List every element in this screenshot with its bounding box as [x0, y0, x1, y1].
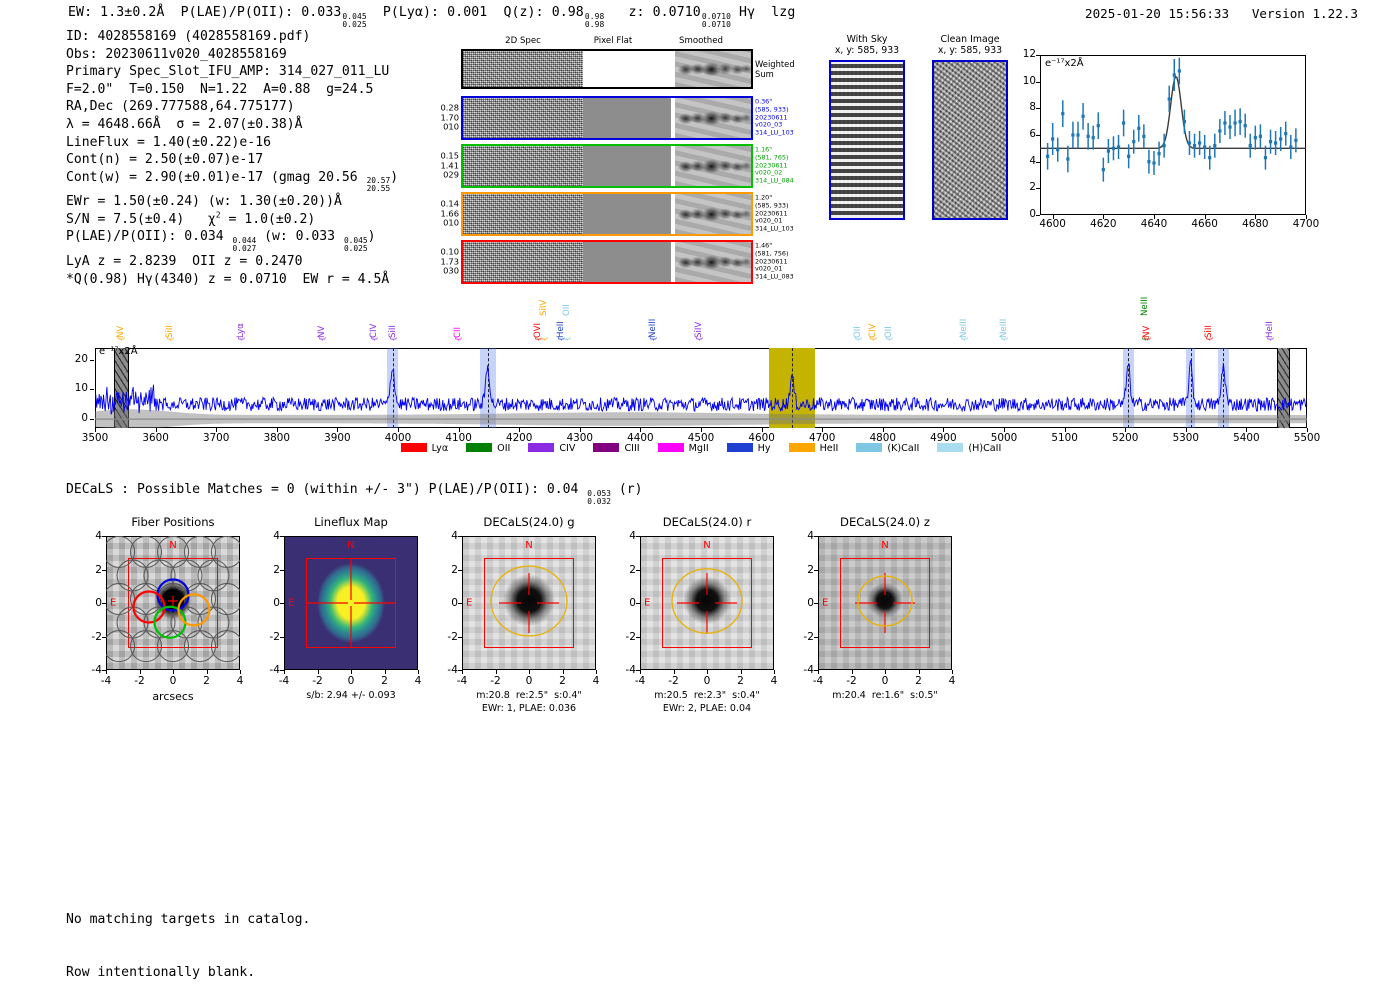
zoom-ytick-mark [1036, 55, 1040, 56]
cutout-title: DECaLS(24.0) r [640, 515, 774, 529]
cutout-xtick-mark [818, 670, 819, 674]
cutout-xtick-mark [529, 670, 530, 674]
zoom-ytick: 12 [1012, 48, 1036, 60]
cutout-ytick: 4 [258, 530, 280, 542]
cutout-xtick: 2 [203, 675, 210, 687]
cutout-xtick: 4 [415, 675, 422, 687]
fiber1-right-meta: 0.36" (585, 933) 20230611 v020_03 314_LU… [755, 99, 794, 138]
cutout-panel-2[interactable]: NE [284, 536, 418, 670]
aperture-ellipse [818, 536, 952, 670]
cutout-ytick-mark [814, 570, 818, 571]
fiber3-right-meta: 1.20" (585, 933) 20230611 v020_01 314_LU… [755, 195, 794, 234]
cutout-ytick: 2 [80, 564, 102, 576]
emission-line-label: CIV [369, 324, 379, 338]
cutout-xtick-mark [596, 670, 597, 674]
cutout-ytick-mark [814, 670, 818, 671]
cutout-ytick-mark [814, 637, 818, 638]
plae2-lower: 0.027 [233, 245, 257, 253]
cutout-xtick-mark [919, 670, 920, 674]
info-primary-spec: Primary Spec_Slot_IFU_AMP: 314_027_011_L… [66, 63, 398, 81]
z-lower: 0.0710 [702, 21, 731, 29]
spectrum-xtick-mark [519, 428, 520, 432]
info-cont-w: Cont(w) = 2.90(±0.01)e-17 (gmag 20.56 20… [66, 169, 398, 194]
emission-line-label: NV [1142, 326, 1152, 338]
center-crosshair [284, 536, 418, 670]
legend-label: CIV [559, 443, 575, 454]
spectrum-xtick-mark [943, 428, 944, 432]
with-sky-cutout: With Sky x, y: 585, 933 [822, 34, 912, 220]
with-sky-title: With Sky [822, 34, 912, 45]
plya-value: 0.001 [447, 5, 487, 20]
spectrum-xtick-mark [1065, 428, 1066, 432]
legend-swatch [658, 443, 684, 452]
cont-w-text: Cont(w) = 2.90(±0.01)e-17 (gmag 20.56 [66, 170, 366, 185]
info-lineflux: LineFlux = 1.40(±0.22)e-16 [66, 134, 398, 152]
emission-line-label: NV [116, 326, 126, 338]
fiber-circles [106, 536, 240, 670]
info-plae: P(LAE)/P(OII): 0.034 0.0440.027 (w: 0.03… [66, 228, 398, 253]
gmag-lower: 20.55 [367, 185, 391, 193]
spec2d-row-fiber-1: 0.28 1.70 010 0.36" (585, 933) 20230611 … [461, 96, 753, 140]
cutout-xtick-mark [462, 670, 463, 674]
cutout-xtick-mark [640, 670, 641, 674]
qz-lower: 0.98 [585, 21, 604, 29]
cutout-ytick-mark [102, 603, 106, 604]
cutout-ytick: 2 [258, 564, 280, 576]
emission-line-label: CIV [868, 324, 878, 338]
spectrum-ytick: 10 [62, 382, 88, 394]
zoom-xtick: 4700 [1293, 218, 1319, 230]
legend-item: CIV [528, 443, 575, 454]
fiber1-pixelflat-image [583, 98, 671, 138]
cutout-ytick-mark [280, 670, 284, 671]
cutout-ytick-mark [814, 603, 818, 604]
spectrum-plot-canvas [95, 348, 1307, 428]
emission-line-label: OII [562, 304, 572, 316]
cutout-ytick: -4 [80, 664, 102, 676]
plae2-text: P(LAE)/P(OII): 0.034 [66, 229, 232, 244]
with-sky-coords: x, y: 585, 933 [822, 45, 912, 56]
legend-label: (H)CaII [968, 443, 1001, 454]
fiber2-2dspec-image [463, 146, 583, 186]
header-line-name: Hγ [739, 5, 755, 20]
cutout-caption-1: m:20.4 re:1.6" s:0.5" [804, 690, 966, 701]
legend-item: (K)CaII [856, 443, 919, 454]
weighted-sum-label: Weighted Sum [755, 59, 795, 79]
spectrum-ytick-mark [90, 419, 94, 420]
zoom-ytick: 6 [1012, 128, 1036, 140]
cutout-ytick: -2 [80, 631, 102, 643]
cutout-xtick: -2 [668, 675, 679, 687]
spectrum-xtick-mark [1004, 428, 1005, 432]
z-value: 0.0710 [653, 5, 701, 20]
cutout-title: DECaLS(24.0) z [818, 515, 952, 529]
line-fit-zoom-chart: e⁻¹⁷x2Å [1040, 55, 1306, 215]
cutout-xtick-mark [173, 670, 174, 674]
cutout-xtick-mark [418, 670, 419, 674]
zoom-ytick: 4 [1012, 155, 1036, 167]
aperture-ellipse [462, 536, 596, 670]
cutout-ytick-mark [814, 536, 818, 537]
spec2d-row-fiber-2: 0.15 1.41 029 1.16" (581, 765) 20230611 … [461, 144, 753, 188]
fiber3-2dspec-image [463, 194, 583, 234]
cont-w-close: ) [390, 170, 398, 185]
cutout-xtick-mark [707, 670, 708, 674]
fiber3-pixelflat-image [583, 194, 671, 234]
info-wavelength-sigma: λ = 4648.66Å σ = 2.07(±0.38)Å [66, 116, 398, 134]
plae2-w-lower: 0.025 [344, 245, 368, 253]
zoom-plot-canvas [1040, 55, 1306, 215]
cutout-ytick-mark [458, 670, 462, 671]
legend-item: CIII [593, 443, 639, 454]
cutout-xtick: -4 [101, 675, 112, 687]
cutout-ytick-mark [458, 570, 462, 571]
fiber1-smoothed-image [675, 98, 751, 138]
spectrum-xtick-mark [762, 428, 763, 432]
cutout-ytick: -4 [436, 664, 458, 676]
cutout-ytick-mark [280, 536, 284, 537]
emission-line-label: OII [853, 326, 863, 338]
cutout-xtick: -2 [490, 675, 501, 687]
cutout-ytick: -2 [792, 631, 814, 643]
emission-line-label: NeIII [959, 319, 969, 338]
cutout-xtick: 4 [237, 675, 244, 687]
cutout-ytick-mark [102, 570, 106, 571]
zoom-ytick-mark [1036, 82, 1040, 83]
cutout-ytick: 0 [792, 597, 814, 609]
cutout-xtick-mark [207, 670, 208, 674]
qz-value: 0.98 [552, 5, 584, 20]
spectrum-xtick-mark [1246, 428, 1247, 432]
header-flag: lzg [771, 5, 795, 20]
cutout-caption-1: m:20.8 re:2.5" s:0.4" [448, 690, 610, 701]
cutout-xtick: 2 [737, 675, 744, 687]
cutout-ytick: 4 [792, 530, 814, 542]
info-id: ID: 4028558169 (4028558169.pdf) [66, 28, 398, 46]
emission-line-label: SiII [388, 325, 398, 338]
cutout-xtick: -4 [813, 675, 824, 687]
emission-line-bracket: { [564, 336, 572, 342]
cutout-xtick: 2 [915, 675, 922, 687]
legend-swatch [593, 443, 619, 452]
cutout-ytick-mark [102, 536, 106, 537]
fiber1-2dspec-image [463, 98, 583, 138]
cutout-panel-1[interactable]: NE [106, 536, 240, 670]
cutout-xtick-mark [496, 670, 497, 674]
legend-label: OII [497, 443, 510, 454]
zoom-xtick-mark [1306, 215, 1307, 219]
footer-note: No matching targets in catalog. Row inte… [66, 876, 310, 999]
spectrum-ytick: 0 [62, 412, 88, 424]
cutout-ytick-mark [636, 536, 640, 537]
plya-label: P(Lyα): [383, 5, 439, 20]
emission-line-label: NeIII [999, 319, 1009, 338]
col-title-smoothed: Smoothed [679, 36, 723, 46]
col-title-pixelflat: Pixel Flat [594, 36, 633, 46]
cutout-ytick-mark [280, 570, 284, 571]
emission-line-label: NV [317, 326, 327, 338]
zoom-xtick-mark [1255, 215, 1256, 219]
cutout-xtick: 0 [170, 675, 177, 687]
cutout-ytick: -2 [258, 631, 280, 643]
cutout-title: DECaLS(24.0) g [462, 515, 596, 529]
cutout-ytick-mark [636, 637, 640, 638]
decals-plae-lower: 0.032 [587, 498, 611, 506]
fiber1-left-stats: 0.28 1.70 010 [441, 104, 459, 133]
legend-swatch [466, 443, 492, 452]
emission-line-label: Lyα [236, 323, 246, 338]
cutout-caption-1: s/b: 2.94 +/- 0.093 [270, 690, 432, 701]
cutout-panel-4[interactable]: NE [640, 536, 774, 670]
footer-line-2: Row intentionally blank. [66, 964, 310, 982]
cutout-xtick: 2 [559, 675, 566, 687]
legend-label: (K)CaII [887, 443, 919, 454]
clean-image-coords: x, y: 585, 933 [922, 45, 1018, 56]
spec2d-column-titles: 2D Spec Pixel Flat Smoothed [461, 36, 753, 49]
fiber3-smoothed-image [675, 194, 751, 234]
cutout-ytick-mark [102, 637, 106, 638]
cutout-title: Fiber Positions [106, 515, 240, 529]
legend-item: HeII [789, 443, 839, 454]
with-sky-image [829, 60, 905, 220]
fiber2-right-meta: 1.16" (581, 765) 20230611 v020_02 314_LU… [755, 147, 794, 186]
info-radec: RA,Dec (269.777588,64.775177) [66, 98, 398, 116]
header-timestamp-version: 2025-01-20 15:56:33 Version 1.22.3 [1085, 6, 1358, 21]
zoom-ytick: 8 [1012, 101, 1036, 113]
legend-label: MgII [689, 443, 709, 454]
legend-label: Lyα [432, 443, 448, 454]
spectrum-xtick-mark [216, 428, 217, 432]
legend-item: (H)CaII [937, 443, 1001, 454]
cutout-ytick: 4 [614, 530, 636, 542]
footer-line-1: No matching targets in catalog. [66, 911, 310, 929]
emission-line-bracket: { [541, 336, 549, 342]
cutout-ytick: 0 [80, 597, 102, 609]
legend-swatch [856, 443, 882, 452]
info-obs: Obs: 20230611v020_4028558169 [66, 46, 398, 64]
zoom-xtick: 4620 [1090, 218, 1116, 230]
legend-swatch [528, 443, 554, 452]
zoom-xtick-mark [1103, 215, 1104, 219]
info-params: F=2.0" T=0.150 N=1.22 A=0.88 g=24.5 [66, 81, 398, 99]
zoom-xtick: 4600 [1039, 218, 1065, 230]
cutout-xtick: 0 [704, 675, 711, 687]
plae-label: P(LAE)/P(OII): [181, 5, 294, 20]
ew-label: EW: [68, 5, 92, 20]
spectrum-units-label: e⁻¹⁷x2Å [99, 346, 138, 357]
full-spectrum-chart: e⁻¹⁷x2Å [95, 348, 1307, 428]
spectrum-xtick-mark [701, 428, 702, 432]
zoom-xtick-mark [1205, 215, 1206, 219]
cutout-caption-1: m:20.5 re:2.3" s:0.4" [626, 690, 788, 701]
spectrum-xtick-mark [398, 428, 399, 432]
cutout-xtick-mark [351, 670, 352, 674]
cutout-xtick: 4 [949, 675, 956, 687]
cutout-ytick: -4 [614, 664, 636, 676]
cutout-ytick-mark [636, 603, 640, 604]
cutout-ytick: 2 [436, 564, 458, 576]
spectrum-xtick-mark [1125, 428, 1126, 432]
legend-label: HeII [820, 443, 839, 454]
qz-label: Q(z): [503, 5, 543, 20]
spec2d-panel-group: 2D Spec Pixel Flat Smoothed Weighted Sum… [461, 36, 753, 288]
zoom-xtick: 4660 [1191, 218, 1217, 230]
spec2d-row-fiber-3: 0.14 1.66 010 1.20" (585, 933) 20230611 … [461, 192, 753, 236]
zoom-ytick-mark [1036, 215, 1040, 216]
cutout-xtick: 4 [593, 675, 600, 687]
spectrum-ytick-mark [90, 360, 94, 361]
cutout-ytick: -2 [614, 631, 636, 643]
cutout-ytick: 0 [258, 597, 280, 609]
version-label: Version 1.22.3 [1252, 6, 1358, 21]
emission-line-label: SiII [1204, 325, 1214, 338]
cutout-ytick-mark [636, 570, 640, 571]
z-label: z: [628, 5, 644, 20]
plae2-close: ) [368, 229, 376, 244]
decals-summary-text: DECaLS : Possible Matches = 0 (within +/… [66, 482, 586, 497]
info-cont-n: Cont(n) = 2.50(±0.07)e-17 [66, 151, 398, 169]
cutout-xtick: -4 [457, 675, 468, 687]
aperture-ellipse [640, 536, 774, 670]
spectrum-ytick: 20 [62, 353, 88, 365]
zoom-xtick-mark [1154, 215, 1155, 219]
cutout-xtick-mark [240, 670, 241, 674]
cutout-xtick: -2 [846, 675, 857, 687]
cutout-ytick-mark [458, 603, 462, 604]
cutout-xtick: -4 [635, 675, 646, 687]
chi2-value: = 1.0(±0.2) [221, 212, 316, 227]
emission-line-label: HeII [1265, 321, 1275, 338]
legend-swatch [789, 443, 815, 452]
cutout-xtick-mark [385, 670, 386, 674]
zoom-xtick-mark [1053, 215, 1054, 219]
zoom-ytick-mark [1036, 162, 1040, 163]
emission-line-label: OII [884, 326, 894, 338]
cutout-xtick-mark [106, 670, 107, 674]
weighted-sum-pixelflat-image [583, 51, 671, 87]
decals-summary-line: DECaLS : Possible Matches = 0 (within +/… [66, 482, 643, 506]
clean-image-title: Clean Image [922, 34, 1018, 45]
cutout-ytick: -4 [258, 664, 280, 676]
emission-line-label: NeIII [1140, 297, 1150, 316]
clean-image-image [932, 60, 1008, 220]
cutout-xtick-mark [140, 670, 141, 674]
legend-item: OII [466, 443, 510, 454]
spectrum-xtick-mark [277, 428, 278, 432]
ew-value: 1.3±0.2Å [100, 5, 164, 20]
cutout-panel-3[interactable]: NE [462, 536, 596, 670]
cutout-xtick: 0 [348, 675, 355, 687]
zoom-ytick: 2 [1012, 181, 1036, 193]
cutout-xtick-mark [885, 670, 886, 674]
spectrum-xtick-mark [883, 428, 884, 432]
cutout-xtick: 4 [771, 675, 778, 687]
spectrum-xtick-mark [337, 428, 338, 432]
cutout-ytick-mark [458, 637, 462, 638]
cutout-xtick-mark [563, 670, 564, 674]
cutout-xtick-mark [952, 670, 953, 674]
zoom-xtick: 4640 [1141, 218, 1167, 230]
spectrum-xtick-mark [95, 428, 96, 432]
zoom-ytick-mark [1036, 135, 1040, 136]
zoom-xtick: 4680 [1242, 218, 1268, 230]
timestamp: 2025-01-20 15:56:33 [1085, 6, 1229, 21]
cutout-ytick-mark [636, 670, 640, 671]
legend-item: Hy [727, 443, 771, 454]
legend-item: MgII [658, 443, 709, 454]
cutout-ytick-mark [280, 603, 284, 604]
legend-label: CIII [624, 443, 639, 454]
legend-item: Lyα [401, 443, 448, 454]
cutout-xtick-mark [852, 670, 853, 674]
spectrum-xtick-mark [580, 428, 581, 432]
decals-summary-band: (r) [611, 482, 643, 497]
cutout-ytick: -2 [436, 631, 458, 643]
cutout-ytick-mark [102, 670, 106, 671]
cutout-caption-2: EWr: 2, PLAE: 0.04 [626, 703, 788, 714]
cutout-ytick: 2 [792, 564, 814, 576]
spectrum-ytick-mark [90, 389, 94, 390]
spectrum-legend: LyαOIICIVCIIIMgIIHyHeII(K)CaII(H)CaII [95, 443, 1307, 454]
emission-line-label: SiII [165, 325, 175, 338]
clean-image-cutout: Clean Image x, y: 585, 933 [922, 34, 1018, 220]
emission-line-label: CII [453, 327, 463, 338]
cutout-ytick-mark [458, 536, 462, 537]
fiber2-left-stats: 0.15 1.41 029 [441, 152, 459, 181]
info-ewr: EWr = 1.50(±0.24) (w: 1.30(±0.20))Å [66, 193, 398, 211]
emission-line-label: NeIII [648, 319, 658, 338]
cutout-xtick-mark [318, 670, 319, 674]
zoom-ytick-mark [1036, 108, 1040, 109]
cutout-ytick: 2 [614, 564, 636, 576]
weighted-sum-2dspec-image [463, 51, 583, 87]
cutout-title: Lineflux Map [284, 515, 418, 529]
cutout-ytick: -4 [792, 664, 814, 676]
cutout-caption-2: EWr: 1, PLAE: 0.036 [448, 703, 610, 714]
cutout-xtick: -2 [134, 675, 145, 687]
emission-line-label: SiIV [539, 300, 549, 316]
cutout-xtick: 2 [381, 675, 388, 687]
legend-swatch [727, 443, 753, 452]
cutout-ytick: 0 [614, 597, 636, 609]
zoom-ytick: 0 [1012, 208, 1036, 220]
plae2-mid: (w: 0.033 [256, 229, 343, 244]
weighted-sum-smoothed-image [675, 51, 751, 87]
cutout-ytick-mark [280, 637, 284, 638]
legend-swatch [937, 443, 963, 452]
cutout-xtick-mark [741, 670, 742, 674]
fiber2-smoothed-image [675, 146, 751, 186]
cutout-panel-5[interactable]: NE [818, 536, 952, 670]
cutout-xtick: 0 [526, 675, 533, 687]
emission-line-label: SiIV [694, 322, 704, 338]
legend-label: Hy [758, 443, 771, 454]
col-title-2dspec: 2D Spec [505, 36, 541, 46]
cutout-xlabel: arcsecs [106, 690, 240, 703]
zoom-ytick-mark [1036, 188, 1040, 189]
spectrum-xtick-mark [640, 428, 641, 432]
detection-info-block: ID: 4028558169 (4028558169.pdf) Obs: 202… [66, 28, 398, 288]
info-sn-chi2: S/N = 7.5(±0.4) χ2 = 1.0(±0.2) [66, 211, 398, 229]
cutout-xtick: -2 [312, 675, 323, 687]
spectrum-xtick-mark [822, 428, 823, 432]
cutout-xtick-mark [284, 670, 285, 674]
spec2d-row-weighted-sum: Weighted Sum [461, 49, 753, 89]
sn-text: S/N = 7.5(±0.4) χ [66, 212, 216, 227]
cutout-ytick: 0 [436, 597, 458, 609]
spectrum-xtick-mark [156, 428, 157, 432]
spectrum-xtick-mark [1307, 428, 1308, 432]
